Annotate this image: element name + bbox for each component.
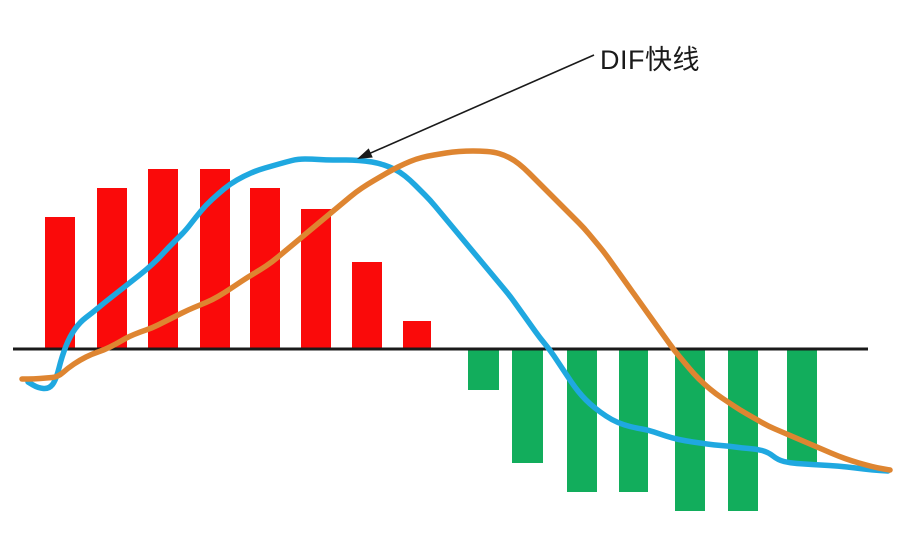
histogram-bar-up-1	[45, 217, 75, 349]
histogram-bar-down-14	[728, 349, 758, 511]
annotation-label-text: DIF快线	[600, 45, 700, 75]
macd-chart-svg: DIF快线	[0, 0, 908, 556]
histogram-bar-up-7	[352, 262, 382, 349]
histogram-bar-up-6	[301, 209, 331, 349]
histogram-bar-down-10	[512, 349, 543, 463]
histogram-bar-up-2	[97, 188, 127, 349]
histogram-bar-down-12	[619, 349, 648, 492]
histogram-bar-down-9	[468, 349, 499, 390]
histogram-bar-up-8	[403, 321, 431, 349]
macd-chart-figure: DIF快线	[0, 0, 908, 556]
histogram-bar-down-11	[567, 349, 597, 492]
